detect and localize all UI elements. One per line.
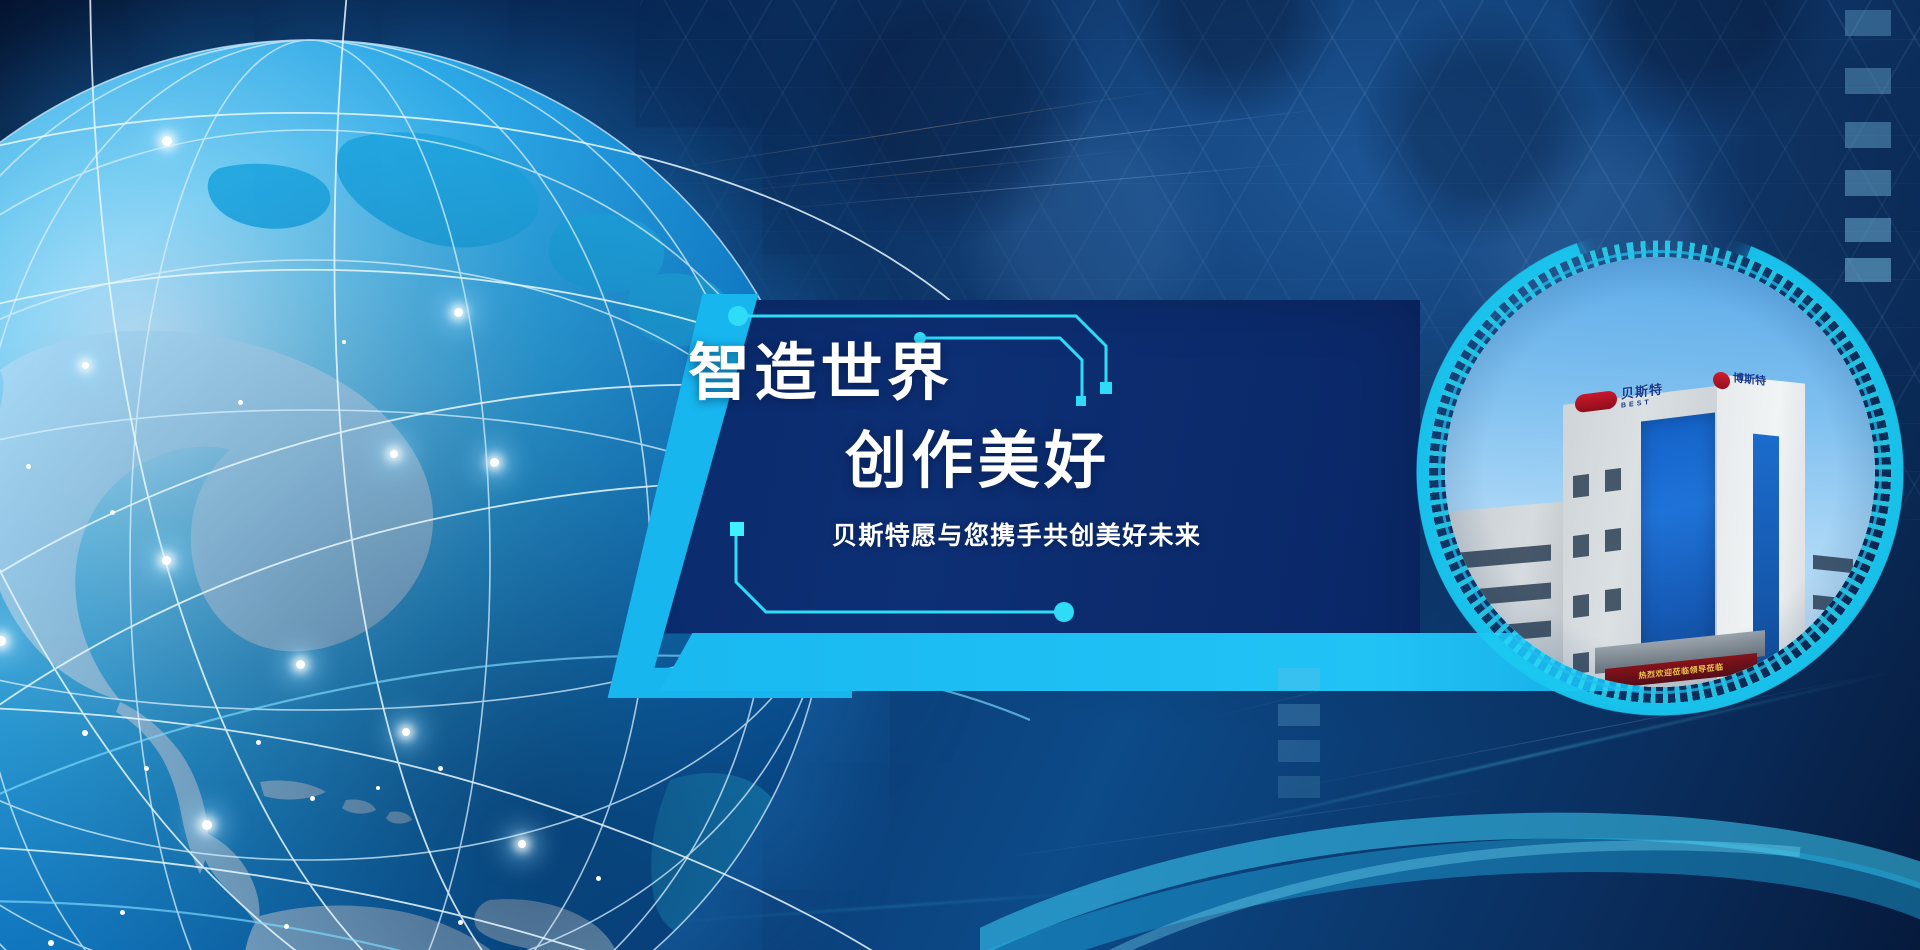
- decor-block: [1278, 740, 1320, 762]
- bottom-decor-block-stack: [1278, 668, 1324, 808]
- headline-panel: 智造世界 创作美好 贝斯特愿与您携手共创美好未来: [620, 300, 1420, 690]
- decor-block: [1278, 776, 1320, 798]
- decor-block: [1845, 258, 1891, 282]
- decor-block: [1278, 668, 1320, 690]
- headquarters-photo: 贝斯特 BEST 博斯特 热烈欢迎莅临领导莅临: [1445, 257, 1875, 687]
- decor-block: [1845, 68, 1891, 94]
- decor-block: [1845, 170, 1891, 196]
- decor-block: [1845, 10, 1891, 36]
- tagline-text: 贝斯特愿与您携手共创美好未来: [832, 516, 1201, 552]
- decor-block: [1278, 704, 1320, 726]
- decor-block: [1845, 218, 1891, 242]
- photo-vignette: [1445, 257, 1875, 687]
- headline-text-group: 智造世界 创作美好 贝斯特愿与您携手共创美好未来: [620, 300, 1420, 690]
- headline-line-1: 智造世界: [688, 322, 953, 412]
- right-decor-block-stack: [1845, 10, 1897, 270]
- headline-line-2: 创作美好: [845, 410, 1110, 500]
- hero-banner: 智造世界 创作美好 贝斯特愿与您携手共创美好未来: [0, 0, 1920, 950]
- decor-block: [1845, 122, 1891, 148]
- building-photo-circle: 贝斯特 BEST 博斯特 热烈欢迎莅临领导莅临: [1410, 222, 1910, 722]
